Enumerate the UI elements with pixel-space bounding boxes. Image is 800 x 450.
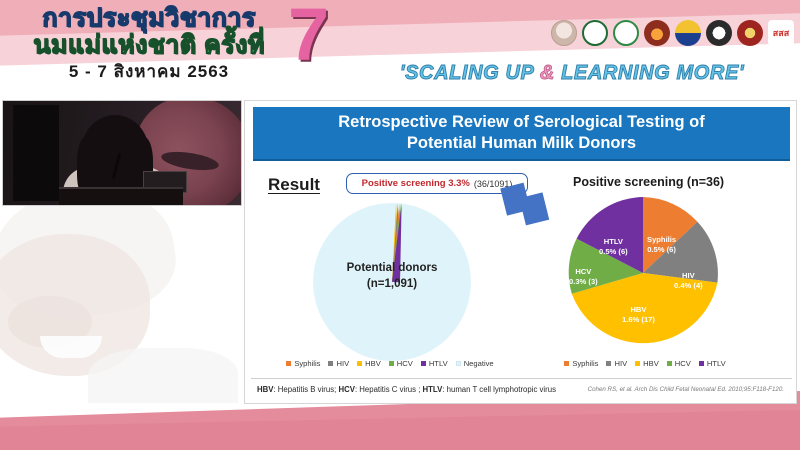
baby-background-image [0,188,246,403]
pie-label-hcv: HCV 0.3% (3) [569,267,598,287]
conference-date: 5 - 7 สิงหาคม 2563 [14,63,284,80]
legend-swatch-icon [606,361,611,366]
pie-label-hbv-value: 1.6% (17) [622,315,655,325]
footnote-htlv-def: : human T cell lymphotropic virus [442,385,556,394]
legend-label: HIV [336,359,349,368]
legend-right-item-syphilis: Syphilis [564,359,598,368]
legend-label: HTLV [707,359,726,368]
legend-left: SyphilisHIVHBVHCVHTLVNegative [275,359,505,368]
right-chart-title: Positive screening (n=36) [573,175,724,189]
legend-swatch-icon [389,361,394,366]
legend-right-item-hbv: HBV [635,359,659,368]
logo-icon-1 [551,20,577,46]
legend-swatch-icon [456,361,461,366]
arrow-icon [499,181,551,229]
legend-swatch-icon [667,361,672,366]
legend-label: HCV [675,359,691,368]
pie-label-htlv: HTLV 0.5% (6) [599,237,628,257]
pie-label-hiv-value: 0.4% (4) [674,281,703,291]
legend-label: HBV [643,359,659,368]
presentation-screenshot: การประชุมวิชาการ นมแม่แห่งชาติ ครั้งที่ … [0,0,800,450]
conference-banner: การประชุมวิชาการ นมแม่แห่งชาติ ครั้งที่ … [0,0,800,95]
slide-title: Retrospective Review of Serological Test… [253,107,790,161]
legend-swatch-icon [328,361,333,366]
pie-left-subtitle: (n=1,091) [313,277,471,293]
slide-footnote: HBV: Hepatitis B virus; HCV: Hepatitis C… [251,378,792,400]
legend-swatch-icon [564,361,569,366]
thai-title-line1: การประชุมวิชาการ [14,6,284,31]
legend-swatch-icon [421,361,426,366]
legend-swatch-icon [699,361,704,366]
pie-chart-potential-donors: Potential donors (n=1,091) [313,203,471,361]
pie-label-hiv: HIV 0.4% (4) [674,271,703,291]
presentation-slide: Retrospective Review of Serological Test… [244,100,797,404]
pie-label-syphilis-name: Syphilis [647,235,676,245]
legend-label: HCV [397,359,413,368]
podium [59,187,183,206]
sponsor-logos: สสส [551,20,794,46]
legend-right-item-hiv: HIV [606,359,627,368]
footnote-text: HBV: Hepatitis B virus; HCV: Hepatitis C… [257,385,556,394]
video-dark-panel [13,105,59,201]
logo-icon-6 [706,20,732,46]
callout-main-text: Positive screening 3.3% [362,178,470,189]
logo-icon-5 [675,20,701,46]
logo-icon-8-thaihealth: สสส [768,20,794,46]
logo-icon-7 [737,20,763,46]
footnote-hbv: HBV [257,385,273,394]
pie-label-hbv-name: HBV [622,305,655,315]
slide-title-line2: Potential Human Milk Donors [407,133,636,154]
logo-icon-3 [613,20,639,46]
legend-label: Syphilis [294,359,320,368]
conference-tagline: 'SCALING UP & LEARNING MORE' [352,62,792,85]
legend-left-item-hiv: HIV [328,359,349,368]
pie-label-syphilis-value: 0.5% (6) [647,245,676,255]
legend-left-item-negative: Negative [456,359,494,368]
logo-icon-4 [644,20,670,46]
footnote-hcv-def: : Hepatitis C virus ; [355,385,423,394]
legend-swatch-icon [286,361,291,366]
legend-right: SyphilisHIVHBVHCVHTLV [545,359,745,368]
legend-right-item-htlv: HTLV [699,359,726,368]
pie-chart-positive-screening: HTLV 0.5% (6) Syphilis 0.5% (6) HIV 0.4%… [563,193,723,353]
tagline-part1: 'SCALING UP [400,62,540,84]
citation-text: Cohen RS, et al. Arch Dis Child Fetal Ne… [588,386,784,393]
pie-label-htlv-value: 0.5% (6) [599,247,628,257]
pie-label-hiv-name: HIV [674,271,703,281]
pie-label-syphilis: Syphilis 0.5% (6) [647,235,676,255]
legend-label: HTLV [429,359,448,368]
pie-left-center-label: Potential donors (n=1,091) [313,261,471,292]
thai-title-line2: นมแม่แห่งชาติ ครั้งที่ [14,33,284,58]
tagline-ampersand: & [540,62,555,84]
legend-swatch-icon [635,361,640,366]
footnote-hbv-def: : Hepatitis B virus; [273,385,338,394]
legend-swatch-icon [357,361,362,366]
pie-label-htlv-name: HTLV [599,237,628,247]
legend-left-item-htlv: HTLV [421,359,448,368]
footnote-hcv: HCV [338,385,354,394]
legend-label: HBV [365,359,381,368]
legend-right-item-hcv: HCV [667,359,691,368]
legend-left-item-syphilis: Syphilis [286,359,320,368]
result-heading: Result [268,175,320,195]
slide-title-line1: Retrospective Review of Serological Test… [338,112,704,133]
pie-label-hcv-value: 0.3% (3) [569,277,598,287]
legend-label: Syphilis [572,359,598,368]
pie-left-title: Potential donors [313,261,471,277]
logo-icon-2 [582,20,608,46]
legend-label: Negative [464,359,494,368]
footnote-htlv: HTLV [423,385,443,394]
legend-label: HIV [614,359,627,368]
speaker-video-thumbnail[interactable] [2,100,242,206]
pie-label-hbv: HBV 1.6% (17) [622,305,655,325]
baby-image-overlay [0,188,246,403]
edition-number: 7 [288,0,329,72]
conference-thai-title: การประชุมวิชาการ นมแม่แห่งชาติ ครั้งที่ … [14,6,284,80]
legend-left-item-hbv: HBV [357,359,381,368]
pie-label-hcv-name: HCV [569,267,598,277]
tagline-part2: LEARNING MORE' [555,62,744,84]
legend-left-item-hcv: HCV [389,359,413,368]
